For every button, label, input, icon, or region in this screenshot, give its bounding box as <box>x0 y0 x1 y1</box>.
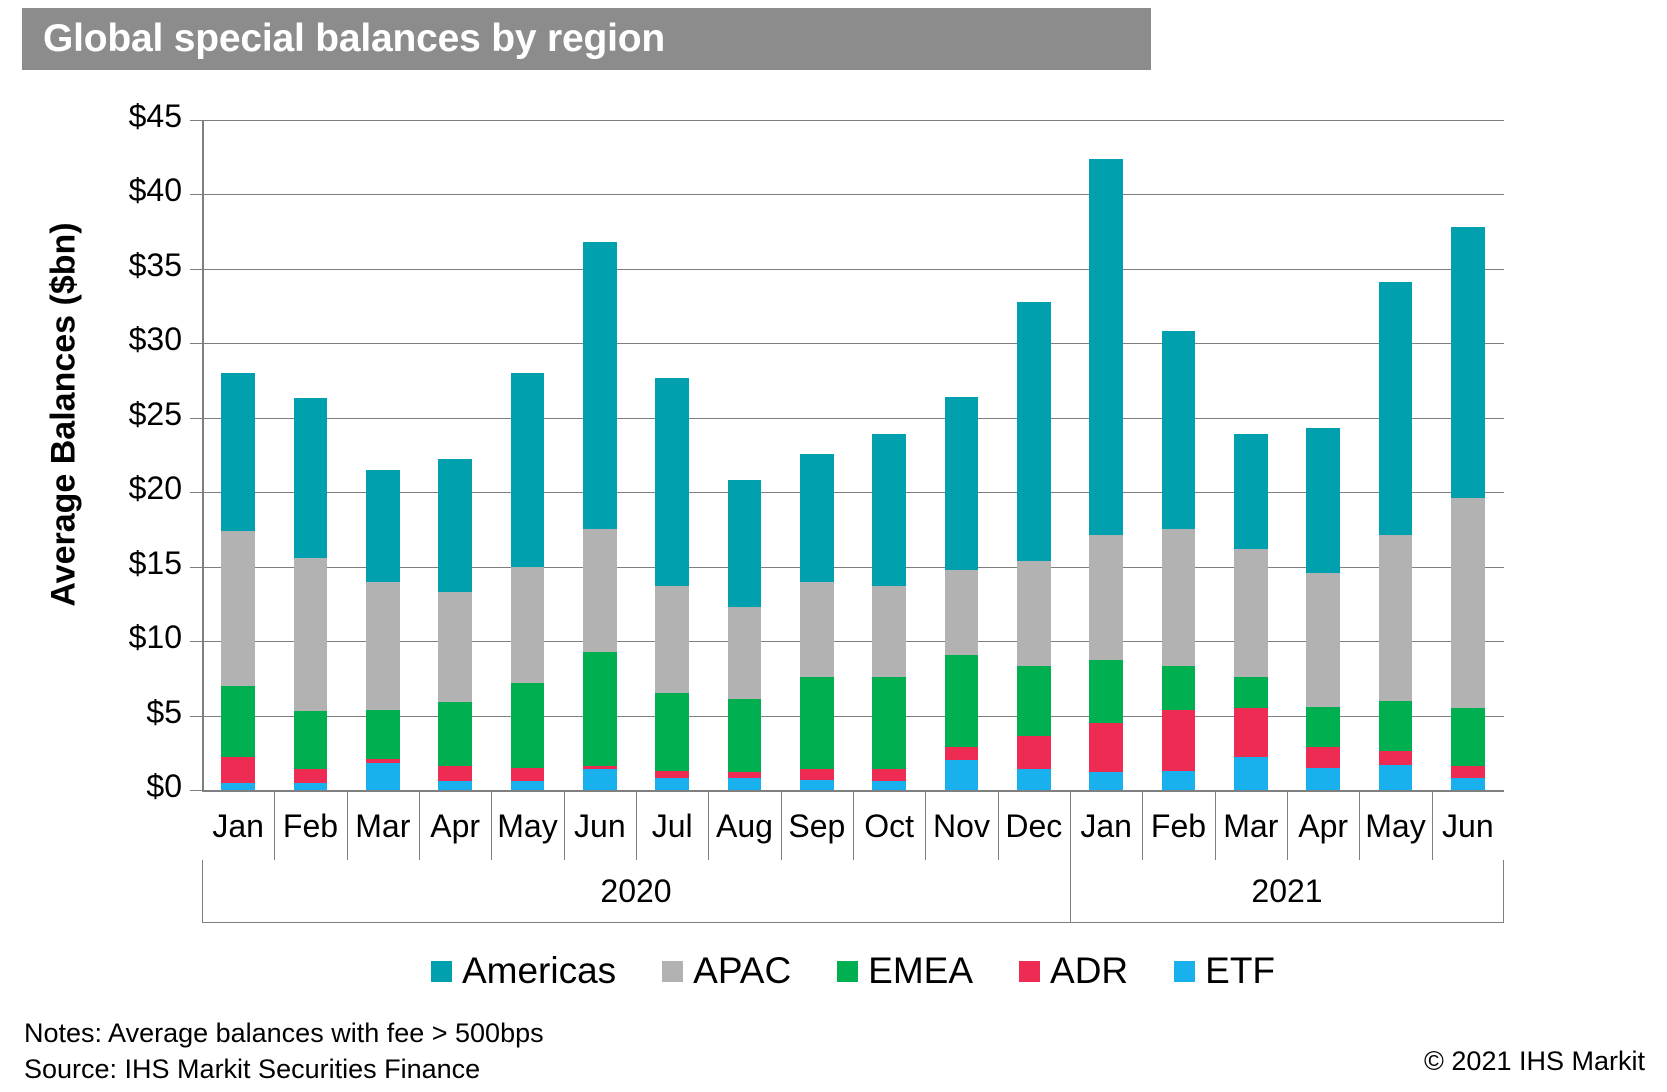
bar-column[interactable] <box>1089 120 1123 790</box>
bar-segment-americas[interactable] <box>366 470 400 582</box>
notes-line-2: Source: IHS Markit Securities Finance <box>24 1052 544 1088</box>
chart-title-bar: Global special balances by region <box>22 8 1151 70</box>
x-axis-month-label: Apr <box>1287 792 1359 860</box>
bar-segment-etf[interactable] <box>1162 771 1196 790</box>
y-axis-tick-label: $25 <box>22 396 182 433</box>
bar-segment-etf[interactable] <box>294 783 328 790</box>
x-axis-month-label: Apr <box>419 792 491 860</box>
bar-segment-adr[interactable] <box>1089 723 1123 772</box>
bar-segment-americas[interactable] <box>655 378 689 586</box>
bar-segment-apac[interactable] <box>945 570 979 655</box>
bar-segment-apac[interactable] <box>872 586 906 677</box>
bar-segment-emea[interactable] <box>438 702 472 766</box>
legend-label: APAC <box>693 950 791 992</box>
bar-segment-apac[interactable] <box>1306 573 1340 707</box>
bar-segment-etf[interactable] <box>366 763 400 790</box>
bar-segment-etf[interactable] <box>1451 778 1485 790</box>
bar-segment-apac[interactable] <box>438 592 472 702</box>
bar-segment-americas[interactable] <box>294 398 328 557</box>
chart-notes: Notes: Average balances with fee > 500bp… <box>24 1016 544 1087</box>
x-axis-month-label: Feb <box>1142 792 1214 860</box>
x-axis-separator <box>1142 792 1143 860</box>
bar-segment-apac[interactable] <box>366 582 400 710</box>
x-axis-year-labels: 20202021 <box>202 860 1504 922</box>
page-title: Global special balances by region <box>43 17 665 61</box>
bar-segment-americas[interactable] <box>221 373 255 531</box>
legend-label: ETF <box>1205 950 1275 992</box>
bar-column[interactable] <box>1017 120 1051 790</box>
bar-segment-emea[interactable] <box>1451 708 1485 766</box>
bar-segment-adr[interactable] <box>294 769 328 782</box>
bar-segment-americas[interactable] <box>945 397 979 570</box>
bar-column[interactable] <box>728 120 762 790</box>
x-axis-separator <box>636 792 637 860</box>
y-axis-tick-label: $0 <box>22 768 182 805</box>
y-axis-tick <box>190 492 202 493</box>
bar-segment-apac[interactable] <box>221 531 255 686</box>
bar-segment-etf[interactable] <box>1017 769 1051 790</box>
x-axis-month-label: Mar <box>1215 792 1287 860</box>
bar-column[interactable] <box>1162 120 1196 790</box>
x-axis-separator <box>998 792 999 860</box>
bar-segment-americas[interactable] <box>1089 159 1123 536</box>
bar-segment-emea[interactable] <box>800 677 834 769</box>
bar-segment-emea[interactable] <box>511 683 545 768</box>
legend-item-etf[interactable]: ETF <box>1174 950 1275 992</box>
bar-segment-etf[interactable] <box>800 780 834 790</box>
bar-column[interactable] <box>438 120 472 790</box>
x-axis-separator <box>419 792 420 860</box>
bar-segment-etf[interactable] <box>1306 768 1340 790</box>
bar-column[interactable] <box>1306 120 1340 790</box>
x-axis-bottom-rule <box>202 922 1504 923</box>
y-axis-tick-label: $10 <box>22 619 182 656</box>
x-axis-separator <box>347 792 348 860</box>
bar-segment-etf[interactable] <box>872 781 906 790</box>
x-axis-year-edge <box>1503 860 1504 922</box>
bar-column[interactable] <box>294 120 328 790</box>
x-axis-separator <box>708 792 709 860</box>
bar-segment-emea[interactable] <box>1089 660 1123 723</box>
bar-column[interactable] <box>1379 120 1413 790</box>
bar-segment-etf[interactable] <box>1089 772 1123 790</box>
bar-segment-emea[interactable] <box>1306 707 1340 747</box>
bar-segment-emea[interactable] <box>1017 666 1051 736</box>
legend-label: Americas <box>462 950 616 992</box>
y-axis-tick <box>190 194 202 195</box>
bar-segment-adr[interactable] <box>1451 766 1485 778</box>
bar-segment-apac[interactable] <box>511 567 545 683</box>
bar-segment-apac[interactable] <box>1234 549 1268 677</box>
x-axis-separator <box>925 792 926 860</box>
bar-segment-adr[interactable] <box>221 757 255 782</box>
x-axis-month-label: Nov <box>925 792 997 860</box>
bar-column[interactable] <box>655 120 689 790</box>
x-axis-separator <box>274 792 275 860</box>
bar-segment-adr[interactable] <box>655 771 689 778</box>
bar-segment-adr[interactable] <box>438 766 472 781</box>
y-axis-tick-label: $45 <box>22 98 182 135</box>
bar-segment-apac[interactable] <box>800 582 834 677</box>
bar-segment-apac[interactable] <box>294 558 328 711</box>
bar-segment-americas[interactable] <box>511 373 545 567</box>
x-axis-separator <box>1359 792 1360 860</box>
bar-column[interactable] <box>511 120 545 790</box>
x-axis-month-label: Sep <box>781 792 853 860</box>
legend-item-emea[interactable]: EMEA <box>837 950 973 992</box>
x-axis-month-label: Mar <box>347 792 419 860</box>
bar-segment-etf[interactable] <box>655 778 689 790</box>
y-axis-tick-label: $15 <box>22 545 182 582</box>
x-axis-month-label: Oct <box>853 792 925 860</box>
bar-segment-emea[interactable] <box>945 655 979 747</box>
legend-item-americas[interactable]: Americas <box>431 950 616 992</box>
x-axis-month-label: May <box>491 792 563 860</box>
legend-swatch-icon <box>837 961 858 982</box>
bar-segment-adr[interactable] <box>1017 736 1051 769</box>
x-axis-separator <box>1432 792 1433 860</box>
bar-segment-apac[interactable] <box>1017 561 1051 667</box>
x-axis-year-label: 2021 <box>1070 860 1504 922</box>
chart-legend: AmericasAPACEMEAADRETF <box>202 940 1504 1002</box>
legend-item-apac[interactable]: APAC <box>662 950 791 992</box>
bar-column[interactable] <box>583 120 617 790</box>
bar-segment-emea[interactable] <box>728 699 762 772</box>
x-axis-month-label: May <box>1359 792 1431 860</box>
copyright-text: © 2021 IHS Markit <box>1424 1046 1645 1077</box>
x-axis-month-label: Feb <box>274 792 346 860</box>
y-axis-tick <box>190 120 202 121</box>
y-axis-tick-label: $5 <box>22 694 182 731</box>
x-axis-separator <box>1287 792 1288 860</box>
bar-segment-emea[interactable] <box>872 677 906 769</box>
legend-label: EMEA <box>868 950 973 992</box>
y-axis-tick-label: $20 <box>22 470 182 507</box>
bar-segment-apac[interactable] <box>583 529 617 651</box>
bar-segment-emea[interactable] <box>221 686 255 757</box>
bar-segment-etf[interactable] <box>511 781 545 790</box>
bar-segment-adr[interactable] <box>1234 708 1268 757</box>
bar-segment-apac[interactable] <box>1379 535 1413 700</box>
bar-column[interactable] <box>800 120 834 790</box>
bar-segment-americas[interactable] <box>1379 282 1413 535</box>
bar-segment-emea[interactable] <box>655 693 689 770</box>
bar-segment-etf[interactable] <box>1234 757 1268 790</box>
bar-segment-adr[interactable] <box>945 747 979 760</box>
legend-swatch-icon <box>1019 961 1040 982</box>
bar-segment-americas[interactable] <box>1162 331 1196 529</box>
y-axis-tick <box>190 343 202 344</box>
y-axis-tick <box>190 567 202 568</box>
x-axis-month-label: Aug <box>708 792 780 860</box>
x-axis-year-separator <box>1070 860 1071 922</box>
bar-segment-americas[interactable] <box>1451 227 1485 498</box>
bar-segment-etf[interactable] <box>728 778 762 790</box>
x-axis-month-label: Jan <box>1070 792 1142 860</box>
bar-segment-etf[interactable] <box>221 783 255 790</box>
bar-segment-americas[interactable] <box>1017 302 1051 561</box>
y-axis-tick <box>190 716 202 717</box>
bar-segment-adr[interactable] <box>1162 710 1196 771</box>
bar-segment-apac[interactable] <box>655 586 689 693</box>
x-axis-year-label: 2020 <box>202 860 1070 922</box>
x-axis-separator <box>853 792 854 860</box>
y-axis-tick <box>190 641 202 642</box>
bar-segment-emea[interactable] <box>366 710 400 759</box>
y-axis-tick-label: $40 <box>22 172 182 209</box>
bar-column[interactable] <box>221 120 255 790</box>
x-axis-separator <box>1215 792 1216 860</box>
x-axis-month-label: Jul <box>636 792 708 860</box>
bar-segment-adr[interactable] <box>1379 751 1413 764</box>
bar-column[interactable] <box>945 120 979 790</box>
bar-segment-adr[interactable] <box>872 769 906 781</box>
y-axis-tick <box>190 269 202 270</box>
bar-segment-etf[interactable] <box>1379 765 1413 790</box>
plot-area <box>202 120 1504 790</box>
x-axis-separator <box>1070 792 1071 860</box>
bar-segment-adr[interactable] <box>800 769 834 779</box>
bar-segment-adr[interactable] <box>728 772 762 778</box>
bar-segment-etf[interactable] <box>438 781 472 790</box>
bar-segment-adr[interactable] <box>511 768 545 781</box>
bar-segment-emea[interactable] <box>583 652 617 767</box>
bar-segment-apac[interactable] <box>1089 535 1123 660</box>
y-axis-tick-label: $35 <box>22 247 182 284</box>
bar-segment-emea[interactable] <box>1379 701 1413 752</box>
y-axis-tick-label: $30 <box>22 321 182 358</box>
x-axis-month-label: Jun <box>1432 792 1504 860</box>
bar-segment-adr[interactable] <box>1306 747 1340 768</box>
legend-swatch-icon <box>431 961 452 982</box>
bar-segment-apac[interactable] <box>728 607 762 699</box>
bar-column[interactable] <box>1451 120 1485 790</box>
bar-segment-americas[interactable] <box>1306 428 1340 572</box>
bar-segment-emea[interactable] <box>1162 666 1196 709</box>
bar-column[interactable] <box>872 120 906 790</box>
x-axis-separator <box>781 792 782 860</box>
bar-segment-americas[interactable] <box>800 454 834 582</box>
bar-segment-apac[interactable] <box>1451 498 1485 708</box>
x-axis-month-labels: JanFebMarAprMayJunJulAugSepOctNovDecJanF… <box>202 792 1504 860</box>
bar-column[interactable] <box>1234 120 1268 790</box>
notes-line-1: Notes: Average balances with fee > 500bp… <box>24 1016 544 1052</box>
x-axis-separator <box>491 792 492 860</box>
bar-segment-americas[interactable] <box>728 480 762 607</box>
x-axis-year-edge <box>202 860 203 922</box>
x-axis-month-label: Jan <box>202 792 274 860</box>
legend-swatch-icon <box>662 961 683 982</box>
legend-item-adr[interactable]: ADR <box>1019 950 1128 992</box>
bar-segment-americas[interactable] <box>583 242 617 529</box>
y-axis-tick <box>190 418 202 419</box>
bar-segment-americas[interactable] <box>1234 434 1268 549</box>
bar-column[interactable] <box>366 120 400 790</box>
legend-label: ADR <box>1050 950 1128 992</box>
bar-segment-emea[interactable] <box>294 711 328 769</box>
x-axis-separator <box>564 792 565 860</box>
bar-segment-emea[interactable] <box>1234 677 1268 708</box>
x-axis-month-label: Jun <box>564 792 636 860</box>
legend-swatch-icon <box>1174 961 1195 982</box>
x-axis-month-label: Dec <box>998 792 1070 860</box>
bar-segment-apac[interactable] <box>1162 529 1196 666</box>
bar-segment-etf[interactable] <box>583 769 617 790</box>
bar-segment-etf[interactable] <box>945 760 979 790</box>
y-axis-tick <box>190 790 202 791</box>
bar-segment-americas[interactable] <box>872 434 906 586</box>
bar-segment-adr[interactable] <box>583 766 617 769</box>
bar-segment-adr[interactable] <box>366 759 400 763</box>
bar-segment-americas[interactable] <box>438 459 472 592</box>
